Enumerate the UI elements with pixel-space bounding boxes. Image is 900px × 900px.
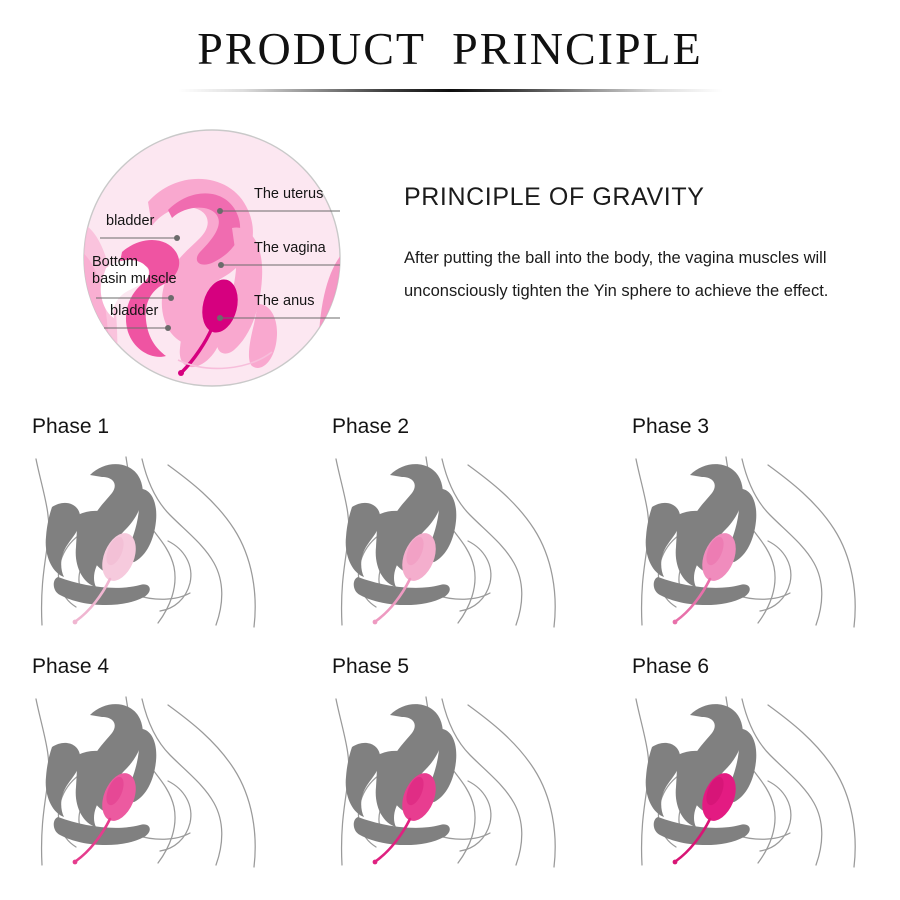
gravity-heading: PRINCIPLE OF GRAVITY [404,183,864,212]
phase-cell-6: Phase 6 [618,655,900,875]
phase-illustration-2 [318,445,588,635]
organ-silhouettes [646,464,757,605]
anatomy-label-uterus: The uterus [254,186,323,202]
phase-cell-4: Phase 4 [18,655,300,875]
organ-silhouettes [46,704,157,845]
phase-cell-1: Phase 1 [18,415,300,635]
organ-silhouettes [346,704,457,845]
phase-label-6: Phase 6 [632,655,900,679]
anatomy-label-bottom-basin-muscle-line2: basin muscle [92,271,177,288]
phase-label-4: Phase 4 [32,655,300,679]
phase-illustration-6 [618,685,888,875]
anatomy-label-anus: The anus [254,293,314,309]
phase-cell-5: Phase 5 [318,655,600,875]
phase-label-3: Phase 3 [632,415,900,439]
gravity-body-text: After putting the ball into the body, th… [404,242,849,308]
principle-of-gravity-section: PRINCIPLE OF GRAVITY After putting the b… [404,183,864,308]
anatomy-label-bladder-upper: bladder [106,213,154,229]
phase-label-5: Phase 5 [332,655,600,679]
phase-cell-3: Phase 3 [618,415,900,635]
phase-illustration-4 [18,685,288,875]
phase-label-1: Phase 1 [32,415,300,439]
phase-illustration-1 [18,445,288,635]
phase-cell-2: Phase 2 [318,415,600,635]
phase-row-2: Phase 4 Phase 5 [0,655,900,875]
anatomy-label-vagina: The vagina [254,240,326,256]
organ-silhouettes [46,464,157,605]
phase-illustration-5 [318,685,588,875]
phase-label-2: Phase 2 [332,415,600,439]
title-divider [178,89,723,92]
anatomy-diagram: The uterus The vagina The anus bladder B… [82,128,342,388]
phase-illustration-3 [618,445,888,635]
organ-silhouettes [646,704,757,845]
organ-silhouettes [346,464,457,605]
anatomy-label-bottom-basin-muscle-line1: Bottom [92,254,177,271]
page-header: PRODUCT PRINCIPLE [0,24,900,92]
anatomy-label-bottom-basin-muscle: Bottom basin muscle [92,254,177,288]
anatomy-label-bladder-lower: bladder [110,303,158,319]
phase-grid: Phase 1 Phase 2 [0,415,900,875]
phase-row-1: Phase 1 Phase 2 [0,415,900,635]
page-title: PRODUCT PRINCIPLE [0,24,900,75]
